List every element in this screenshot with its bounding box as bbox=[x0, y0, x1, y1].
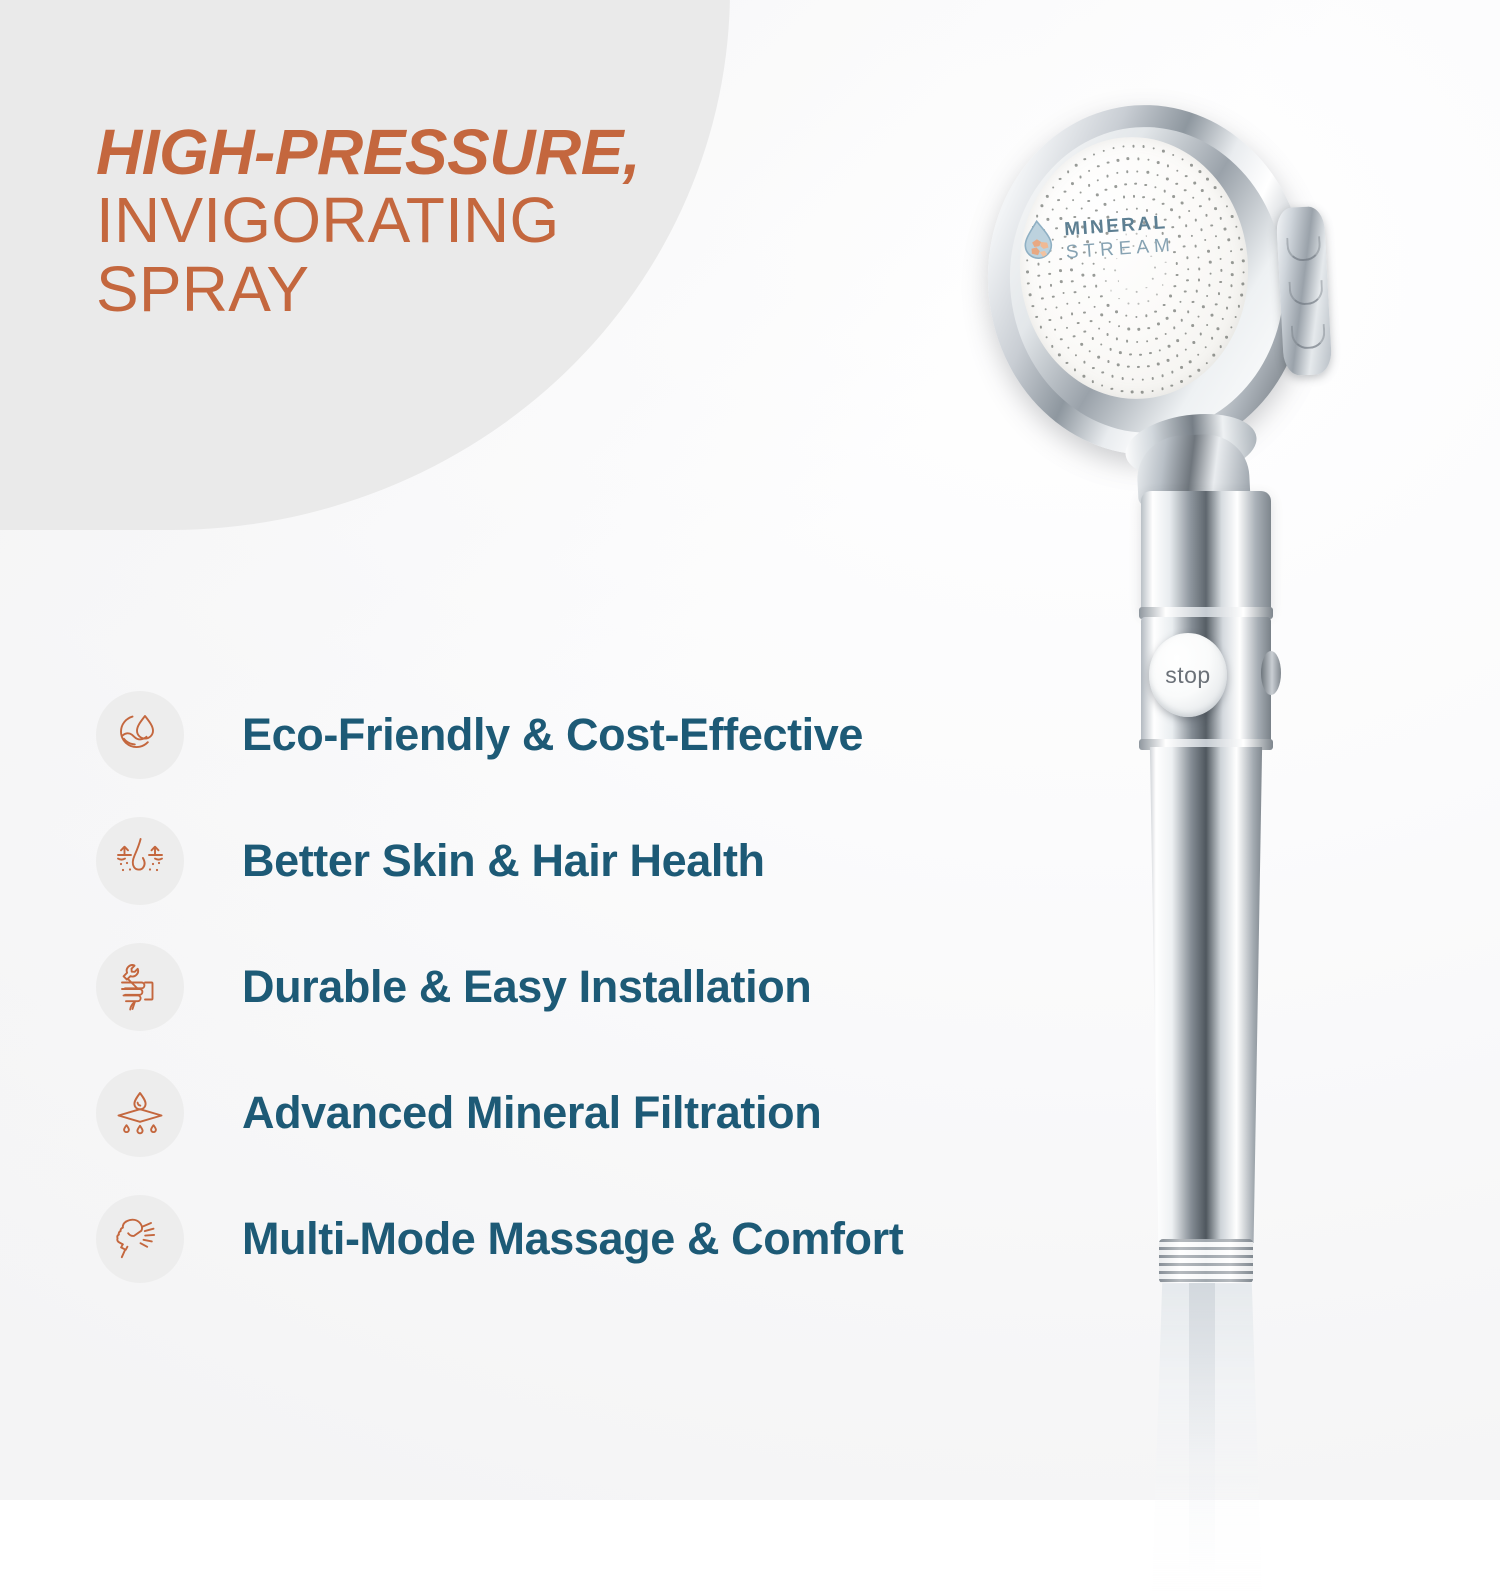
eco-water-drop-hand-icon bbox=[112, 707, 168, 763]
mode-segment-2[interactable] bbox=[1288, 280, 1323, 306]
feature-icon-badge bbox=[96, 1195, 184, 1283]
list-item: Multi-Mode Massage & Comfort bbox=[96, 1176, 1086, 1302]
spray-mode-selector[interactable] bbox=[1276, 206, 1333, 376]
feature-list: Eco-Friendly & Cost-Effective Better bbox=[96, 672, 1086, 1302]
feature-label: Durable & Easy Installation bbox=[242, 961, 811, 1012]
list-item: Durable & Easy Installation bbox=[96, 924, 1086, 1050]
handheld-shower-spray-icon bbox=[112, 1211, 168, 1267]
handle-grip bbox=[1145, 747, 1267, 1243]
feature-icon-badge bbox=[96, 817, 184, 905]
list-item: Advanced Mineral Filtration bbox=[96, 1050, 1086, 1176]
headline-line-3: SPRAY bbox=[96, 255, 756, 323]
hair-follicle-skin-icon bbox=[112, 833, 168, 889]
shower-head-face bbox=[1011, 129, 1257, 406]
stop-button-label: stop bbox=[1165, 662, 1210, 689]
feature-label: Eco-Friendly & Cost-Effective bbox=[242, 709, 863, 760]
list-item: Eco-Friendly & Cost-Effective bbox=[96, 672, 1086, 798]
stop-button[interactable]: stop bbox=[1149, 633, 1227, 717]
mode-segment-1[interactable] bbox=[1286, 236, 1321, 262]
mode-segment-3[interactable] bbox=[1291, 324, 1326, 350]
feature-label: Better Skin & Hair Health bbox=[242, 835, 765, 886]
feature-icon-badge bbox=[96, 943, 184, 1031]
hand-wrench-icon bbox=[112, 959, 168, 1015]
page-title: HIGH-PRESSURE, INVIGORATING SPRAY bbox=[96, 118, 756, 323]
product-image: MINERAL STREAM stop bbox=[975, 95, 1405, 1500]
filtration-membrane-drop-icon bbox=[112, 1085, 168, 1141]
handle-upper-collar bbox=[1141, 491, 1271, 613]
hose-thread-connector bbox=[1159, 1239, 1253, 1283]
feature-label: Multi-Mode Massage & Comfort bbox=[242, 1213, 903, 1264]
headline-line-2: INVIGORATING bbox=[96, 186, 756, 254]
feature-label: Advanced Mineral Filtration bbox=[242, 1087, 821, 1138]
headline-line-1: HIGH-PRESSURE, bbox=[96, 118, 756, 186]
side-knob[interactable] bbox=[1261, 651, 1281, 695]
list-item: Better Skin & Hair Health bbox=[96, 798, 1086, 924]
feature-icon-badge bbox=[96, 691, 184, 779]
product-reflection-core bbox=[1189, 1283, 1215, 1583]
nozzle-holes bbox=[1011, 129, 1257, 406]
feature-icon-badge bbox=[96, 1069, 184, 1157]
